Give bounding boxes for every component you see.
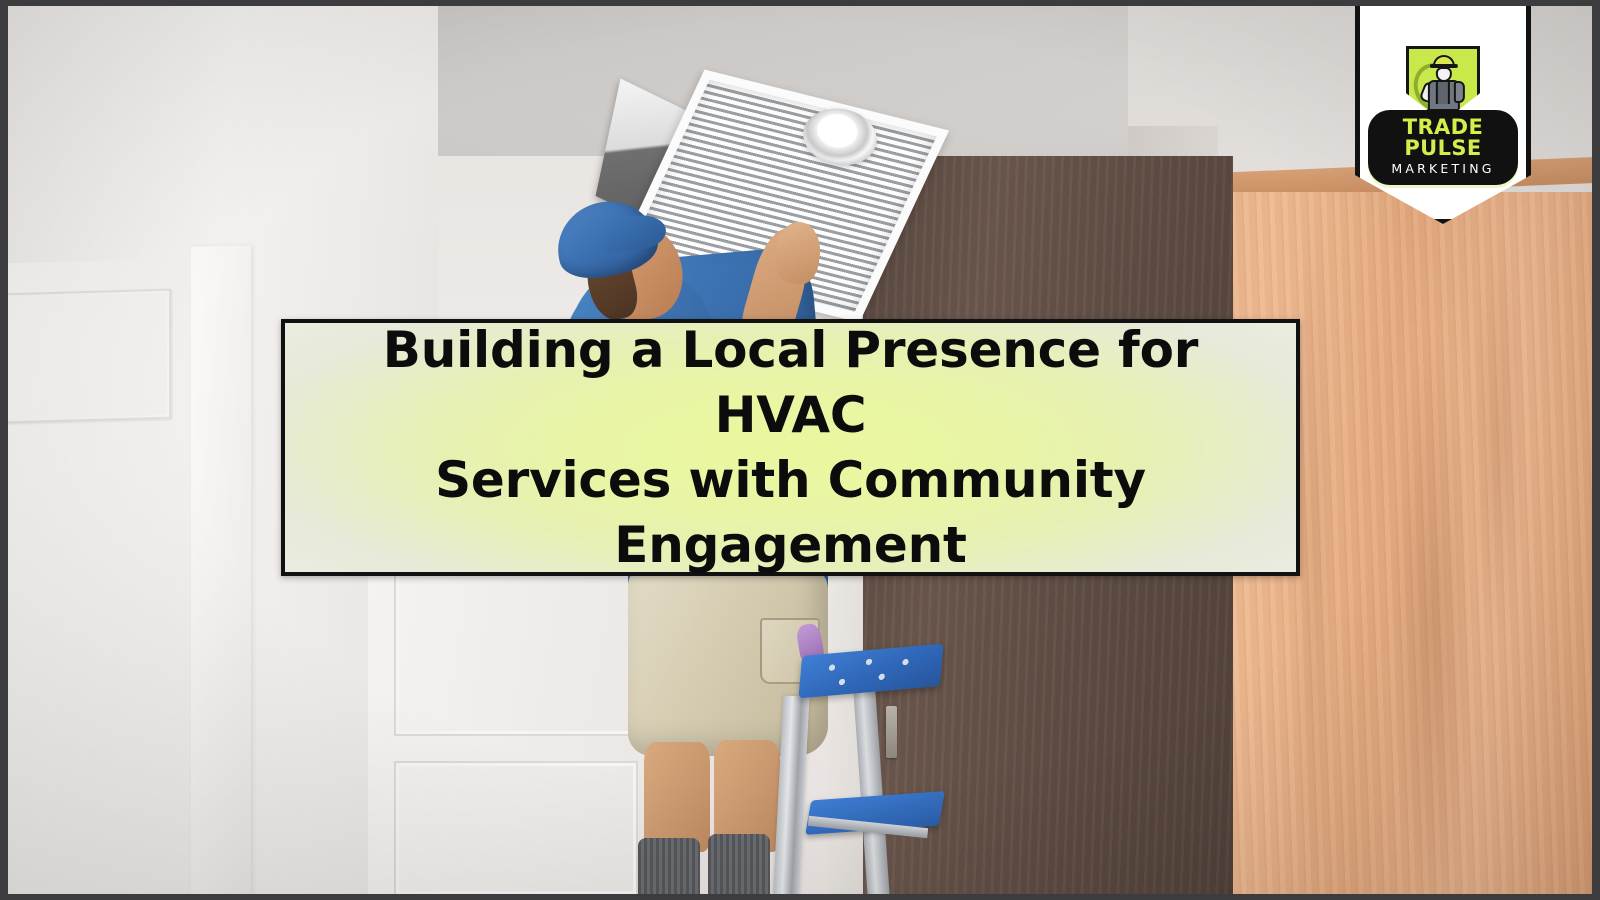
door-handle-icon: [886, 706, 897, 758]
brand-logo-content: TRADE PULSE MARKETING: [1360, 6, 1526, 219]
page-title: Building a Local Presence for HVAC Servi…: [285, 318, 1296, 578]
door-jamb-left: [191, 245, 251, 894]
brand-tagline: MARKETING: [1368, 163, 1518, 176]
brand-name: TRADE PULSE: [1368, 117, 1518, 159]
title-line-1: Building a Local Presence for HVAC: [319, 318, 1262, 448]
technician-leg-left: [644, 742, 710, 852]
grey-sock-left: [638, 838, 700, 894]
title-line-2: Services with Community: [319, 448, 1262, 513]
white-panel-door-left: [8, 258, 195, 894]
title-line-3: Engagement: [319, 513, 1262, 578]
brand-name-banner: TRADE PULSE MARKETING: [1368, 110, 1518, 185]
worker-hard-hat-brim: [1430, 64, 1458, 68]
worker-overalls-bib: [1436, 82, 1450, 104]
worker-arm-right: [1454, 81, 1465, 103]
grey-sock-right: [708, 834, 770, 894]
white-panel-door-center: [368, 546, 670, 894]
background-photo: Building a Local Presence for HVAC Servi…: [8, 6, 1592, 894]
title-card: Building a Local Presence for HVAC Servi…: [281, 319, 1300, 576]
slide-canvas: Building a Local Presence for HVAC Servi…: [0, 0, 1600, 900]
